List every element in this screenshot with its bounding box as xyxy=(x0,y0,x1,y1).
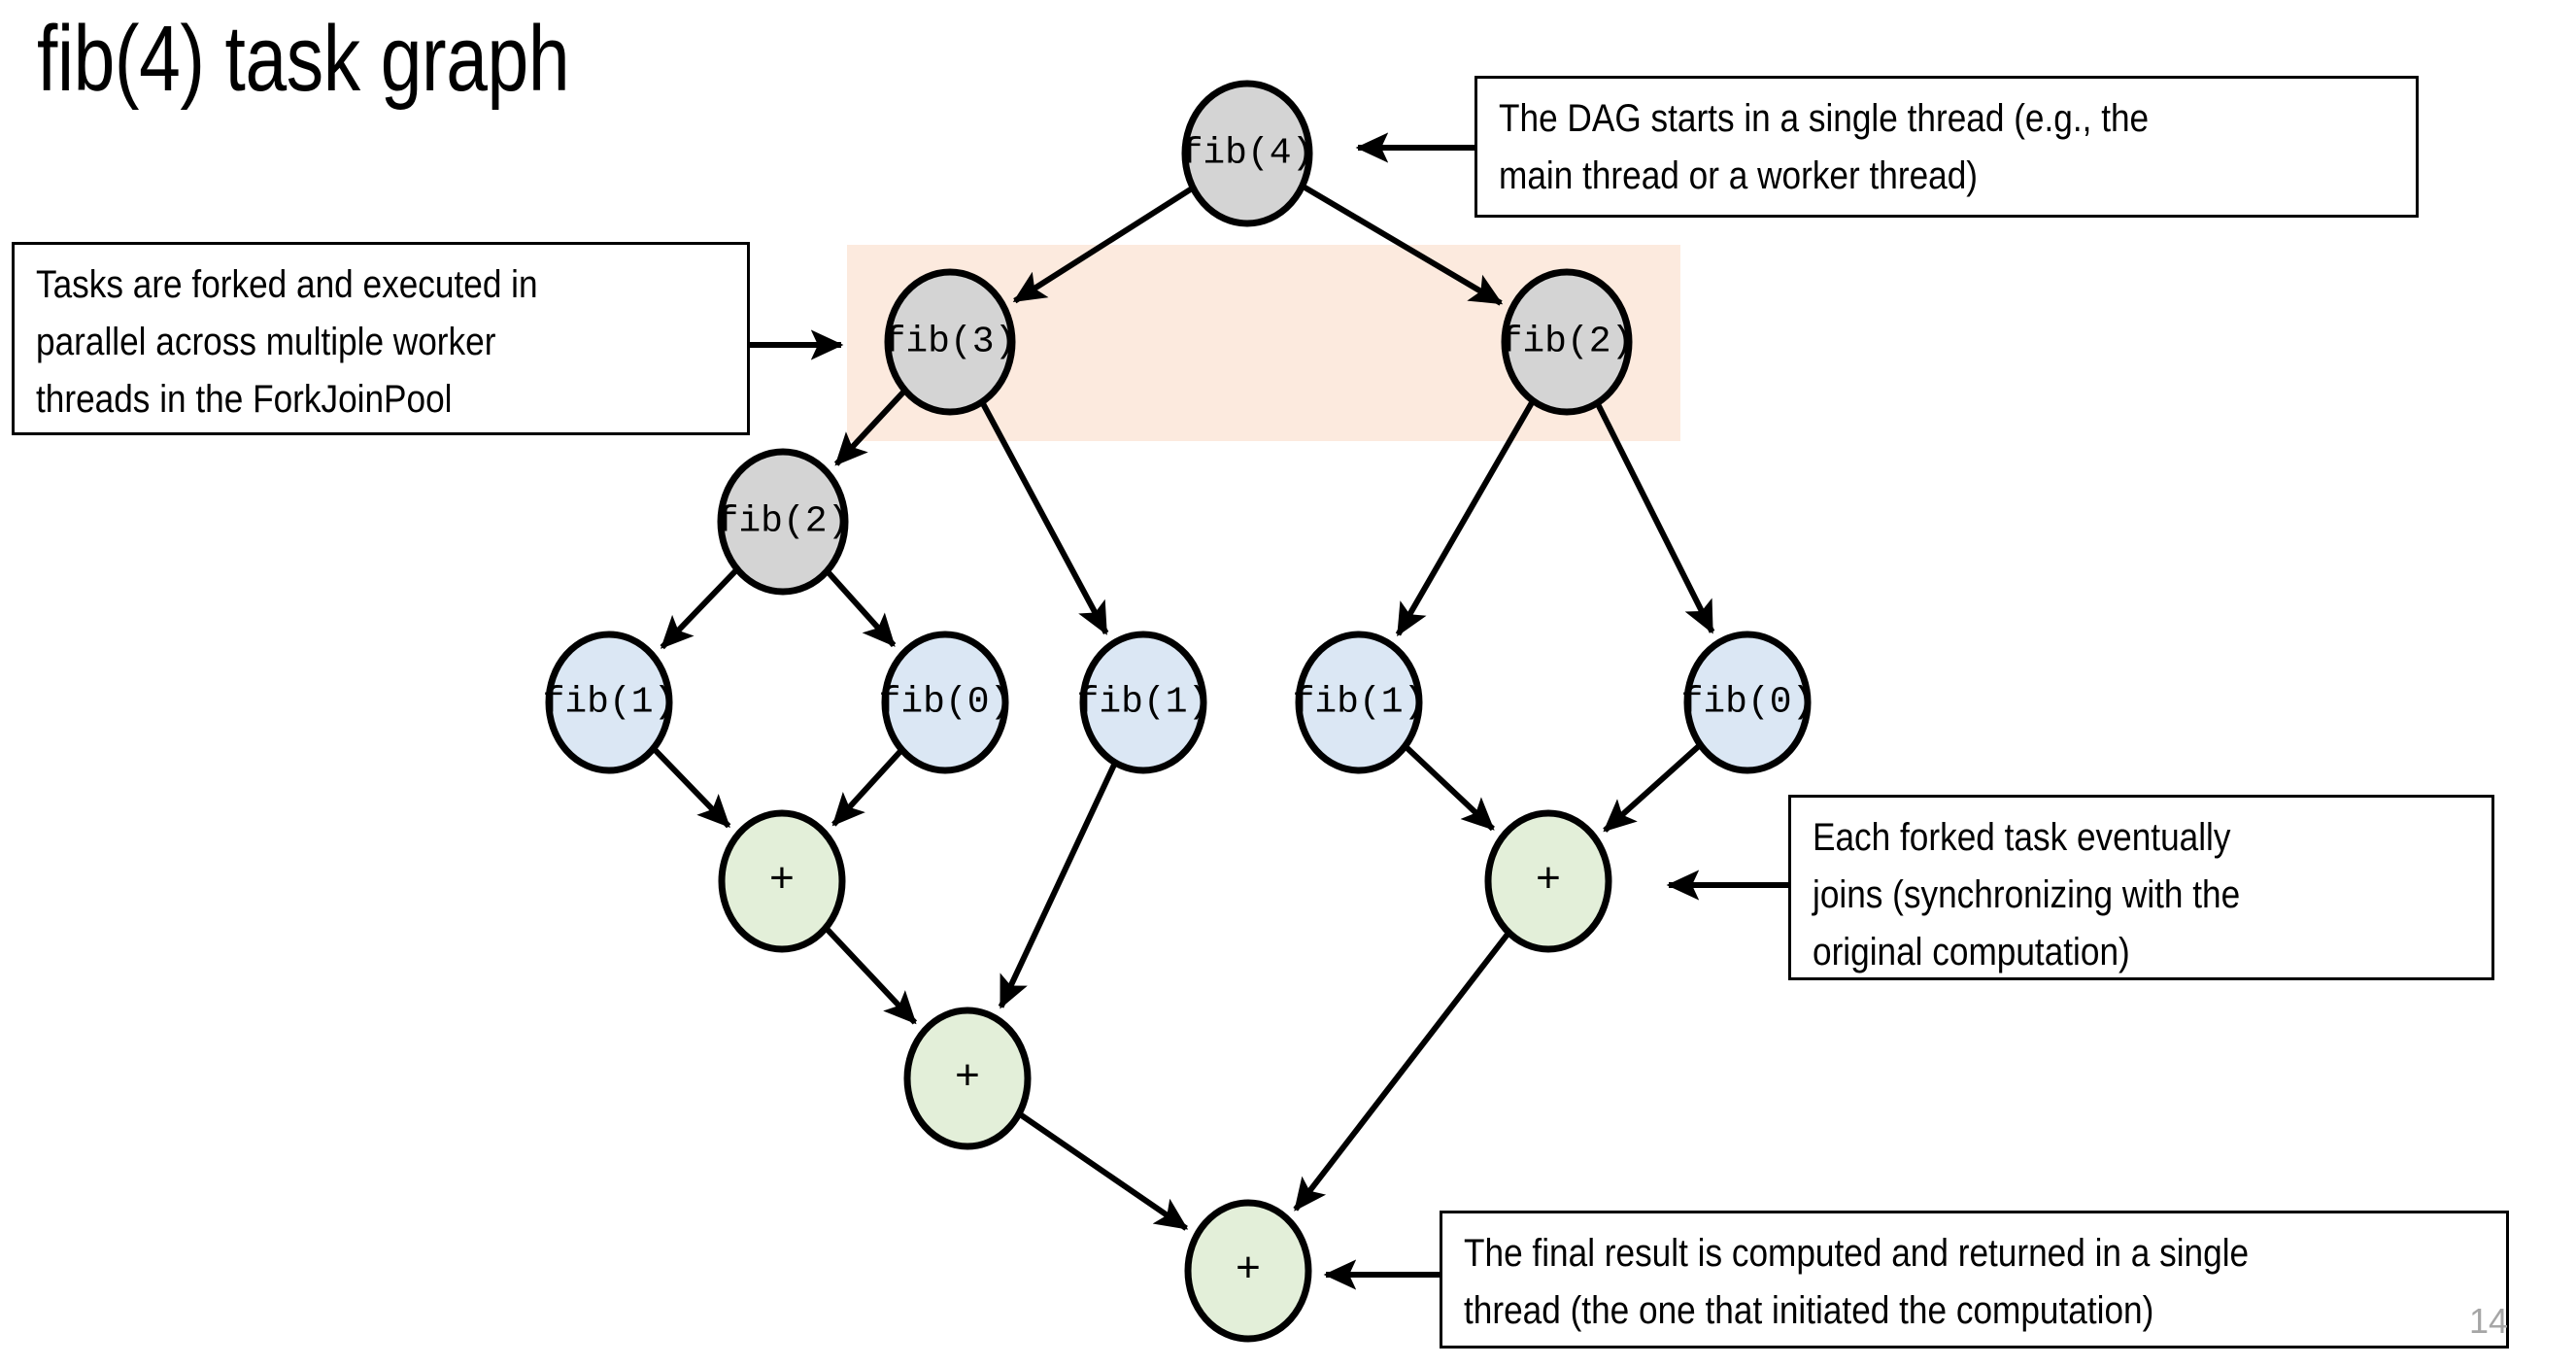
callout-fork-parallel-line-3: threads in the ForkJoinPool xyxy=(36,371,643,428)
callout-final-result: The final result is computed and returne… xyxy=(1440,1211,2509,1349)
graph-node-plusLeft[interactable]: + xyxy=(722,813,842,949)
node-label: + xyxy=(955,1054,980,1103)
node-label: fib(0) xyxy=(1681,682,1814,724)
graph-edge xyxy=(833,751,900,824)
graph-node-fib1c[interactable]: fib(1) xyxy=(1293,634,1426,770)
page-number: 14 xyxy=(2469,1301,2508,1342)
graph-edge xyxy=(1605,746,1699,831)
graph-node-fib2l[interactable]: fib(2) xyxy=(717,452,850,592)
callout-final-result-line-2: thread (the one that initiated the compu… xyxy=(1464,1282,2362,1340)
node-label: fib(2) xyxy=(717,501,850,543)
graph-node-fib0b[interactable]: fib(0) xyxy=(1681,634,1814,770)
node-label: fib(0) xyxy=(879,682,1012,724)
node-label: + xyxy=(1536,857,1561,905)
callout-join-line-1: Each forked task eventually xyxy=(1813,809,2391,867)
graph-node-plusMid[interactable]: + xyxy=(907,1010,1028,1146)
graph-edge xyxy=(1021,1114,1187,1228)
slide-canvas: fib(4) task graph fib(4)fib(3)fib(2)fib(… xyxy=(0,0,2576,1366)
graph-node-fib2r[interactable]: fib(2) xyxy=(1501,272,1634,412)
callout-dag-start-line-1: The DAG starts in a single thread (e.g.,… xyxy=(1499,90,2287,148)
graph-edge xyxy=(1296,934,1508,1209)
graph-edge xyxy=(1598,405,1712,632)
graph-node-fib4[interactable]: fib(4) xyxy=(1181,84,1314,223)
callout-join-line-3: original computation) xyxy=(1813,924,2391,981)
node-label: fib(4) xyxy=(1181,133,1314,175)
graph-edge xyxy=(1398,402,1532,634)
graph-edge xyxy=(1001,765,1115,1007)
graph-edge xyxy=(1304,187,1501,303)
graph-node-fib0a[interactable]: fib(0) xyxy=(879,634,1012,770)
graph-node-plusRight[interactable]: + xyxy=(1488,813,1609,949)
graph-edge xyxy=(1015,188,1192,300)
node-label: + xyxy=(769,857,795,905)
graph-node-fib1a[interactable]: fib(1) xyxy=(543,634,676,770)
graph-edge xyxy=(655,750,729,827)
graph-edge xyxy=(983,403,1106,632)
callout-fork-parallel-line-2: parallel across multiple worker xyxy=(36,314,643,371)
node-label: fib(1) xyxy=(1293,682,1426,724)
graph-edge xyxy=(836,392,903,464)
callout-dag-start-line-2: main thread or a worker thread) xyxy=(1499,148,2287,205)
graph-edge xyxy=(1407,747,1493,829)
graph-edge xyxy=(829,572,894,645)
callout-fork-parallel: Tasks are forked and executed in paralle… xyxy=(12,242,750,435)
node-label: fib(1) xyxy=(1077,682,1210,724)
graph-edge xyxy=(662,570,736,647)
graph-node-plusRoot[interactable]: + xyxy=(1188,1203,1308,1339)
callout-join-line-2: joins (synchronizing with the xyxy=(1813,867,2391,924)
graph-node-fib3[interactable]: fib(3) xyxy=(884,272,1017,412)
callout-fork-parallel-line-1: Tasks are forked and executed in xyxy=(36,256,643,314)
callout-final-result-line-1: The final result is computed and returne… xyxy=(1464,1225,2362,1282)
graph-edge xyxy=(828,929,915,1022)
node-label: fib(1) xyxy=(543,682,676,724)
callout-dag-start: The DAG starts in a single thread (e.g.,… xyxy=(1474,76,2419,218)
callout-join: Each forked task eventually joins (synch… xyxy=(1788,795,2494,980)
node-label: fib(3) xyxy=(884,322,1017,363)
node-label: fib(2) xyxy=(1501,322,1634,363)
node-label: + xyxy=(1236,1246,1261,1295)
graph-node-fib1b[interactable]: fib(1) xyxy=(1077,634,1210,770)
